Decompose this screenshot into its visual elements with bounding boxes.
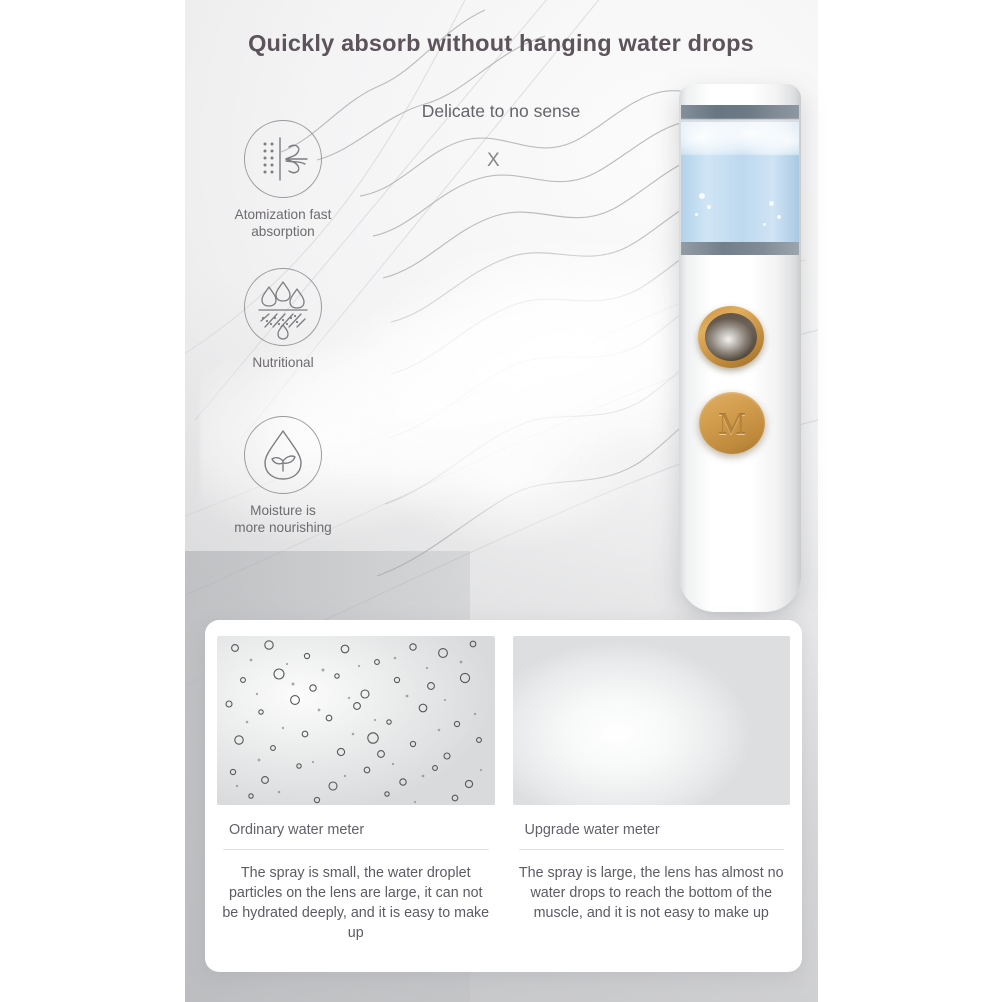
page-title: Quickly absorb without hanging water dro… bbox=[0, 30, 1002, 57]
bubble bbox=[699, 193, 705, 199]
moisture-droplet-sprout-icon bbox=[244, 416, 322, 494]
upgrade-water-meter-photo bbox=[513, 636, 791, 805]
comparison-column-upgrade: Upgrade water meter The spray is large, … bbox=[513, 636, 791, 958]
column-divider bbox=[519, 849, 785, 850]
bubble bbox=[777, 215, 781, 219]
bubble bbox=[763, 223, 766, 226]
water-tank bbox=[681, 105, 799, 255]
feature-label: Atomization fast absorption bbox=[198, 206, 368, 240]
column-description: The spray is small, the water droplet pa… bbox=[221, 863, 491, 943]
bubble bbox=[707, 205, 711, 209]
nano-mist-sprayer-device: M bbox=[679, 84, 801, 612]
feature-item-moisture: Moisture is more nourishing bbox=[198, 416, 368, 536]
column-divider bbox=[223, 849, 489, 850]
mode-button-label: M bbox=[718, 408, 746, 439]
nutritional-droplets-icon bbox=[244, 268, 322, 346]
page-subtitle: Delicate to no sense bbox=[0, 101, 1002, 122]
mist-nozzle-icon[interactable] bbox=[698, 306, 764, 368]
feature-item-nutritional: Nutritional bbox=[198, 268, 368, 371]
column-title: Ordinary water meter bbox=[229, 822, 495, 838]
bubble bbox=[769, 201, 774, 206]
tank-bottom-band bbox=[681, 242, 799, 255]
feature-label: Moisture is more nourishing bbox=[198, 502, 368, 536]
mode-button[interactable]: M bbox=[699, 392, 765, 454]
bubble bbox=[695, 213, 698, 216]
water-surface bbox=[681, 119, 799, 155]
feature-item-atomization: Atomization fast absorption bbox=[198, 120, 368, 240]
comparison-card: Ordinary water meter The spray is small,… bbox=[205, 620, 802, 972]
x-mark-glyph: X bbox=[487, 150, 500, 172]
ordinary-water-meter-photo bbox=[217, 636, 495, 805]
product-infographic: Quickly absorb without hanging water dro… bbox=[0, 0, 1002, 1002]
column-description: The spray is large, the lens has almost … bbox=[517, 863, 787, 923]
column-title: Upgrade water meter bbox=[525, 822, 791, 838]
comparison-column-ordinary: Ordinary water meter The spray is small,… bbox=[217, 636, 495, 958]
atomization-spray-icon bbox=[244, 120, 322, 198]
feature-label: Nutritional bbox=[198, 354, 368, 371]
